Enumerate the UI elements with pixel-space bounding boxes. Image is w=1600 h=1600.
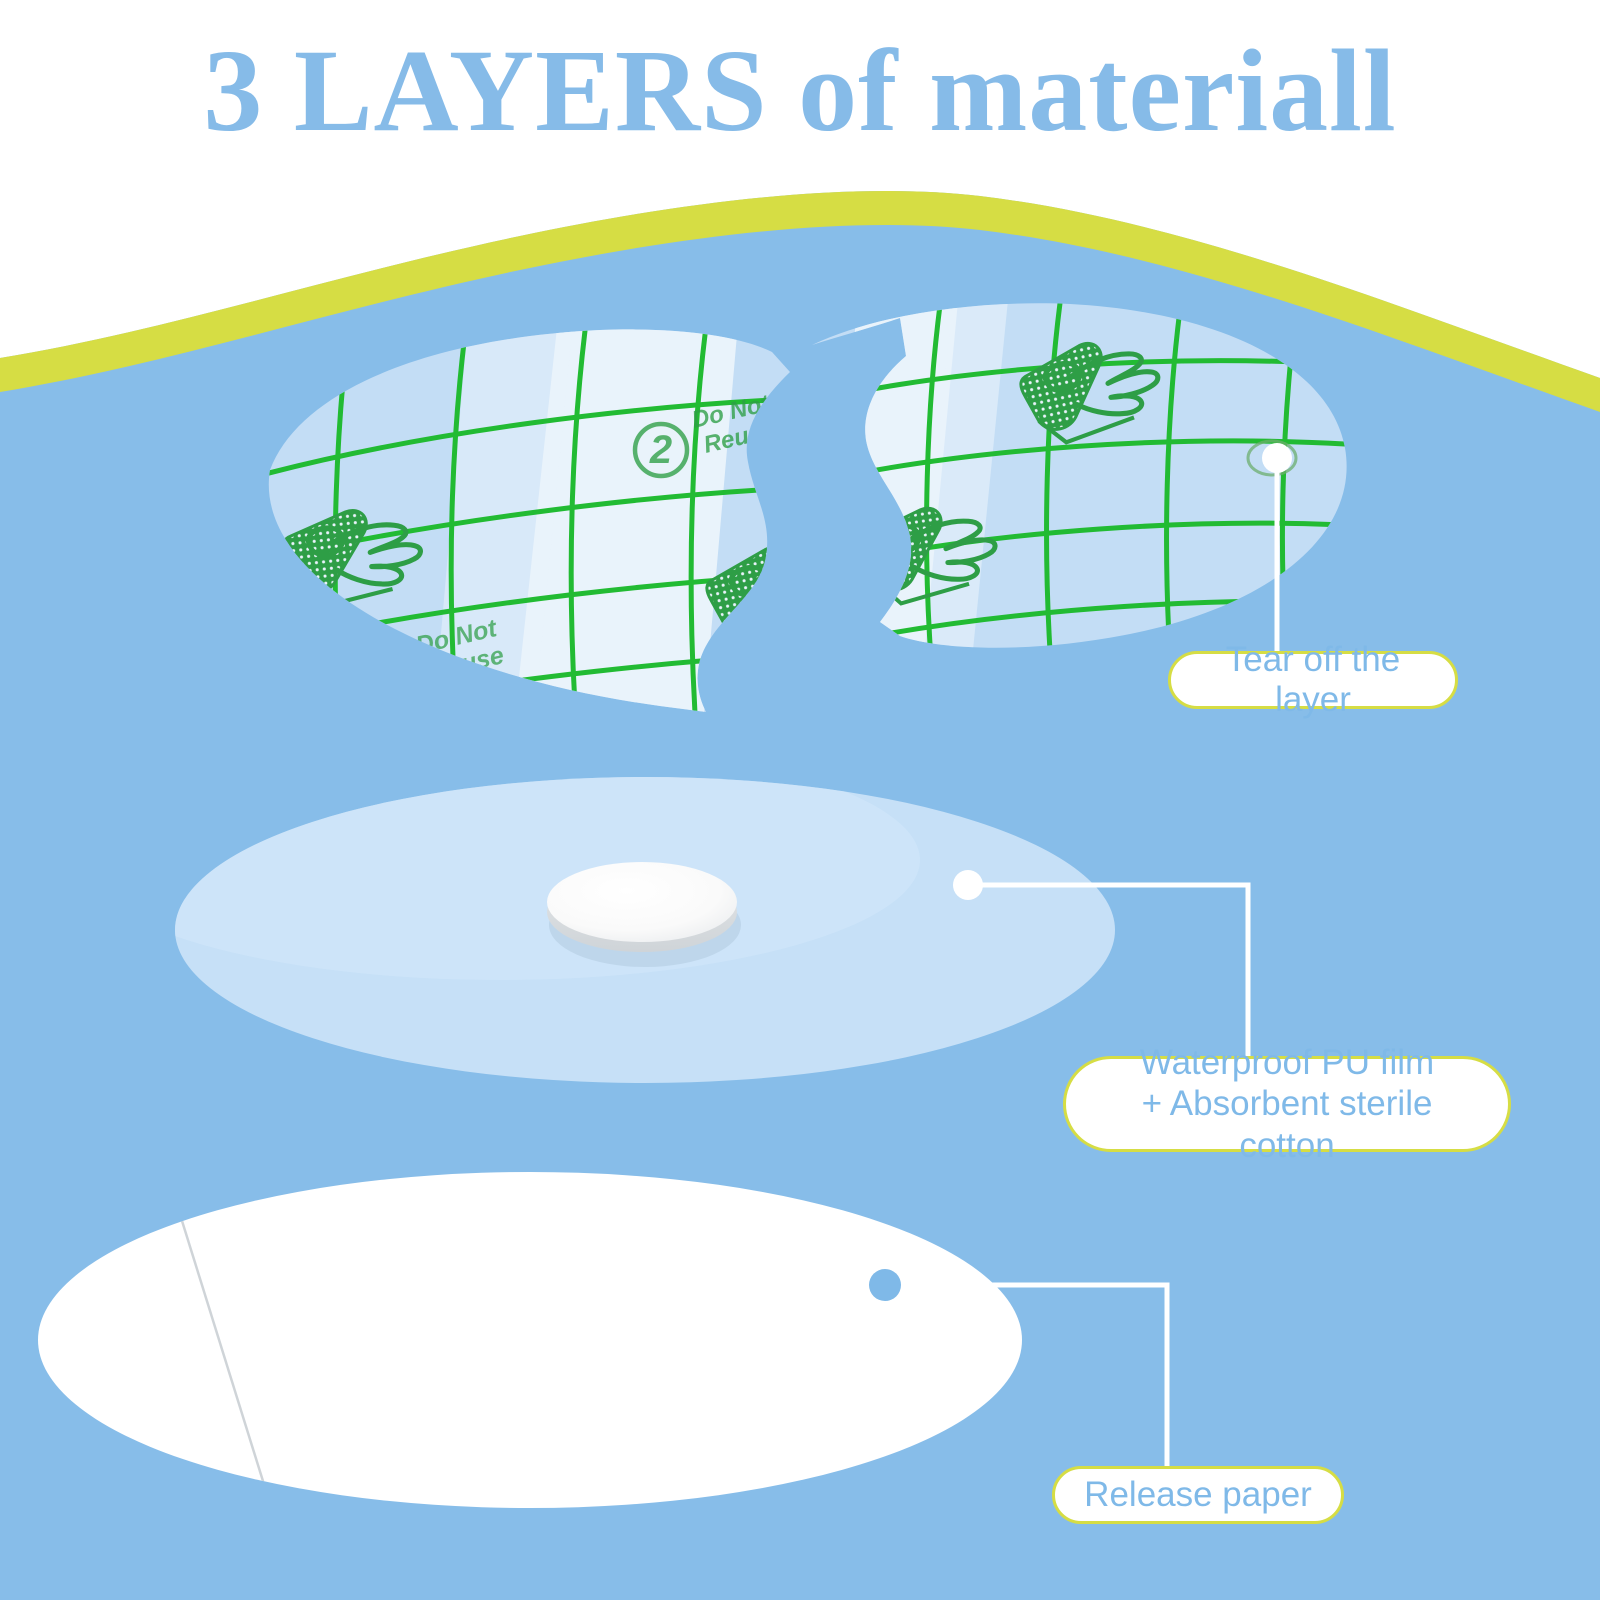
svg-text:2: 2 [649,428,672,472]
callout-label-pu-film-line2: + Absorbent sterile cotton [1094,1083,1480,1166]
page-title: 3 LAYERS of materiall [0,28,1600,153]
callout-label-pu-film[interactable]: Waterproof PU film + Absorbent sterile c… [1063,1056,1511,1152]
callout-dot-tear-off [1262,443,1292,473]
callout-label-release-paper[interactable]: Release paper [1052,1466,1344,1524]
cotton-pad-icon [547,862,741,967]
callout-label-tear-off-text: Tear off the layer [1199,640,1427,720]
callout-label-pu-film-line1: Waterproof PU film [1140,1042,1434,1083]
callout-label-release-paper-text: Release paper [1084,1475,1312,1515]
infographic-canvas: Do Not Reuse 2 Do Not Reuse [0,0,1600,1600]
callout-label-tear-off[interactable]: Tear off the layer [1168,651,1458,709]
callout-dot-release-paper [869,1269,901,1301]
artwork-canvas: Do Not Reuse 2 Do Not Reuse [0,0,1600,1600]
callout-dot-pu-film [953,870,983,900]
